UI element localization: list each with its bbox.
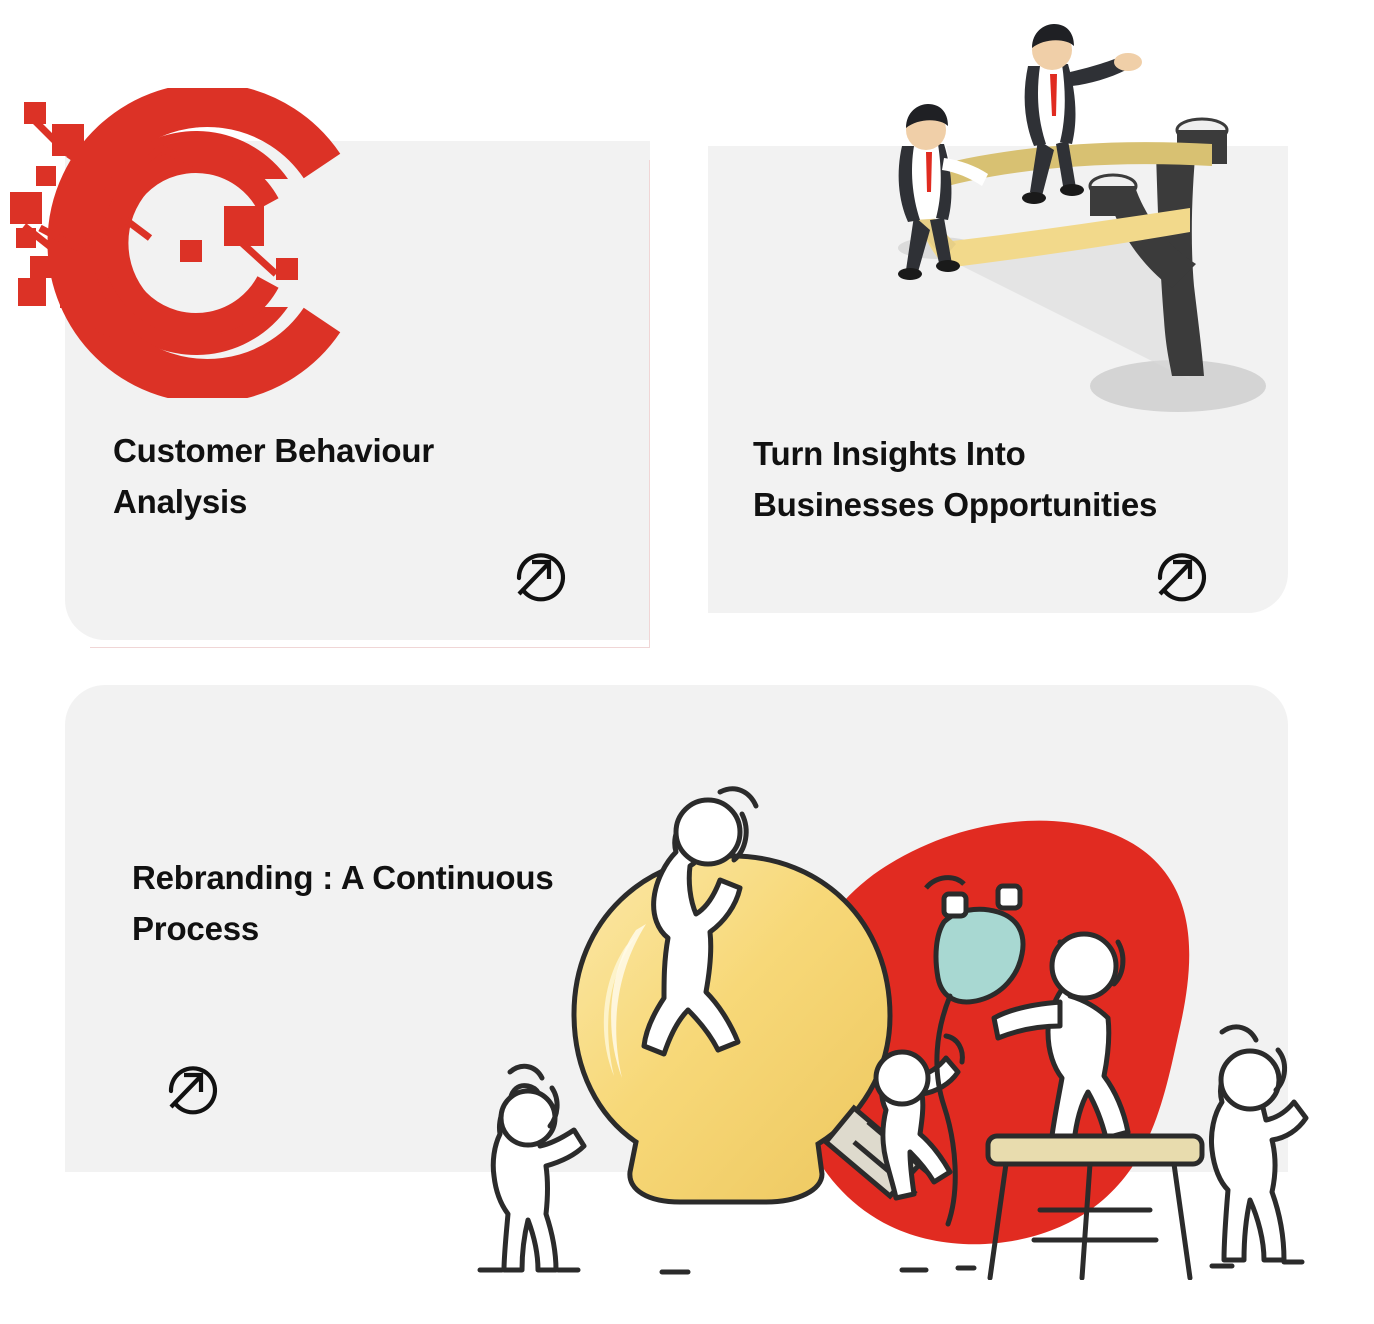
card-1-title: Customer Behaviour Analysis [113, 425, 543, 527]
cards-grid: Customer Behaviour Analysis [0, 0, 1374, 1324]
arrow-up-right-circle-icon[interactable] [506, 542, 568, 604]
card-3-title: Rebranding : A Continuous Process [132, 852, 652, 954]
card-2-title: Turn Insights Into Businesses Opportunit… [753, 428, 1223, 530]
arrow-up-right-circle-icon[interactable] [158, 1055, 220, 1117]
arrow-up-right-circle-icon[interactable] [1147, 542, 1209, 604]
